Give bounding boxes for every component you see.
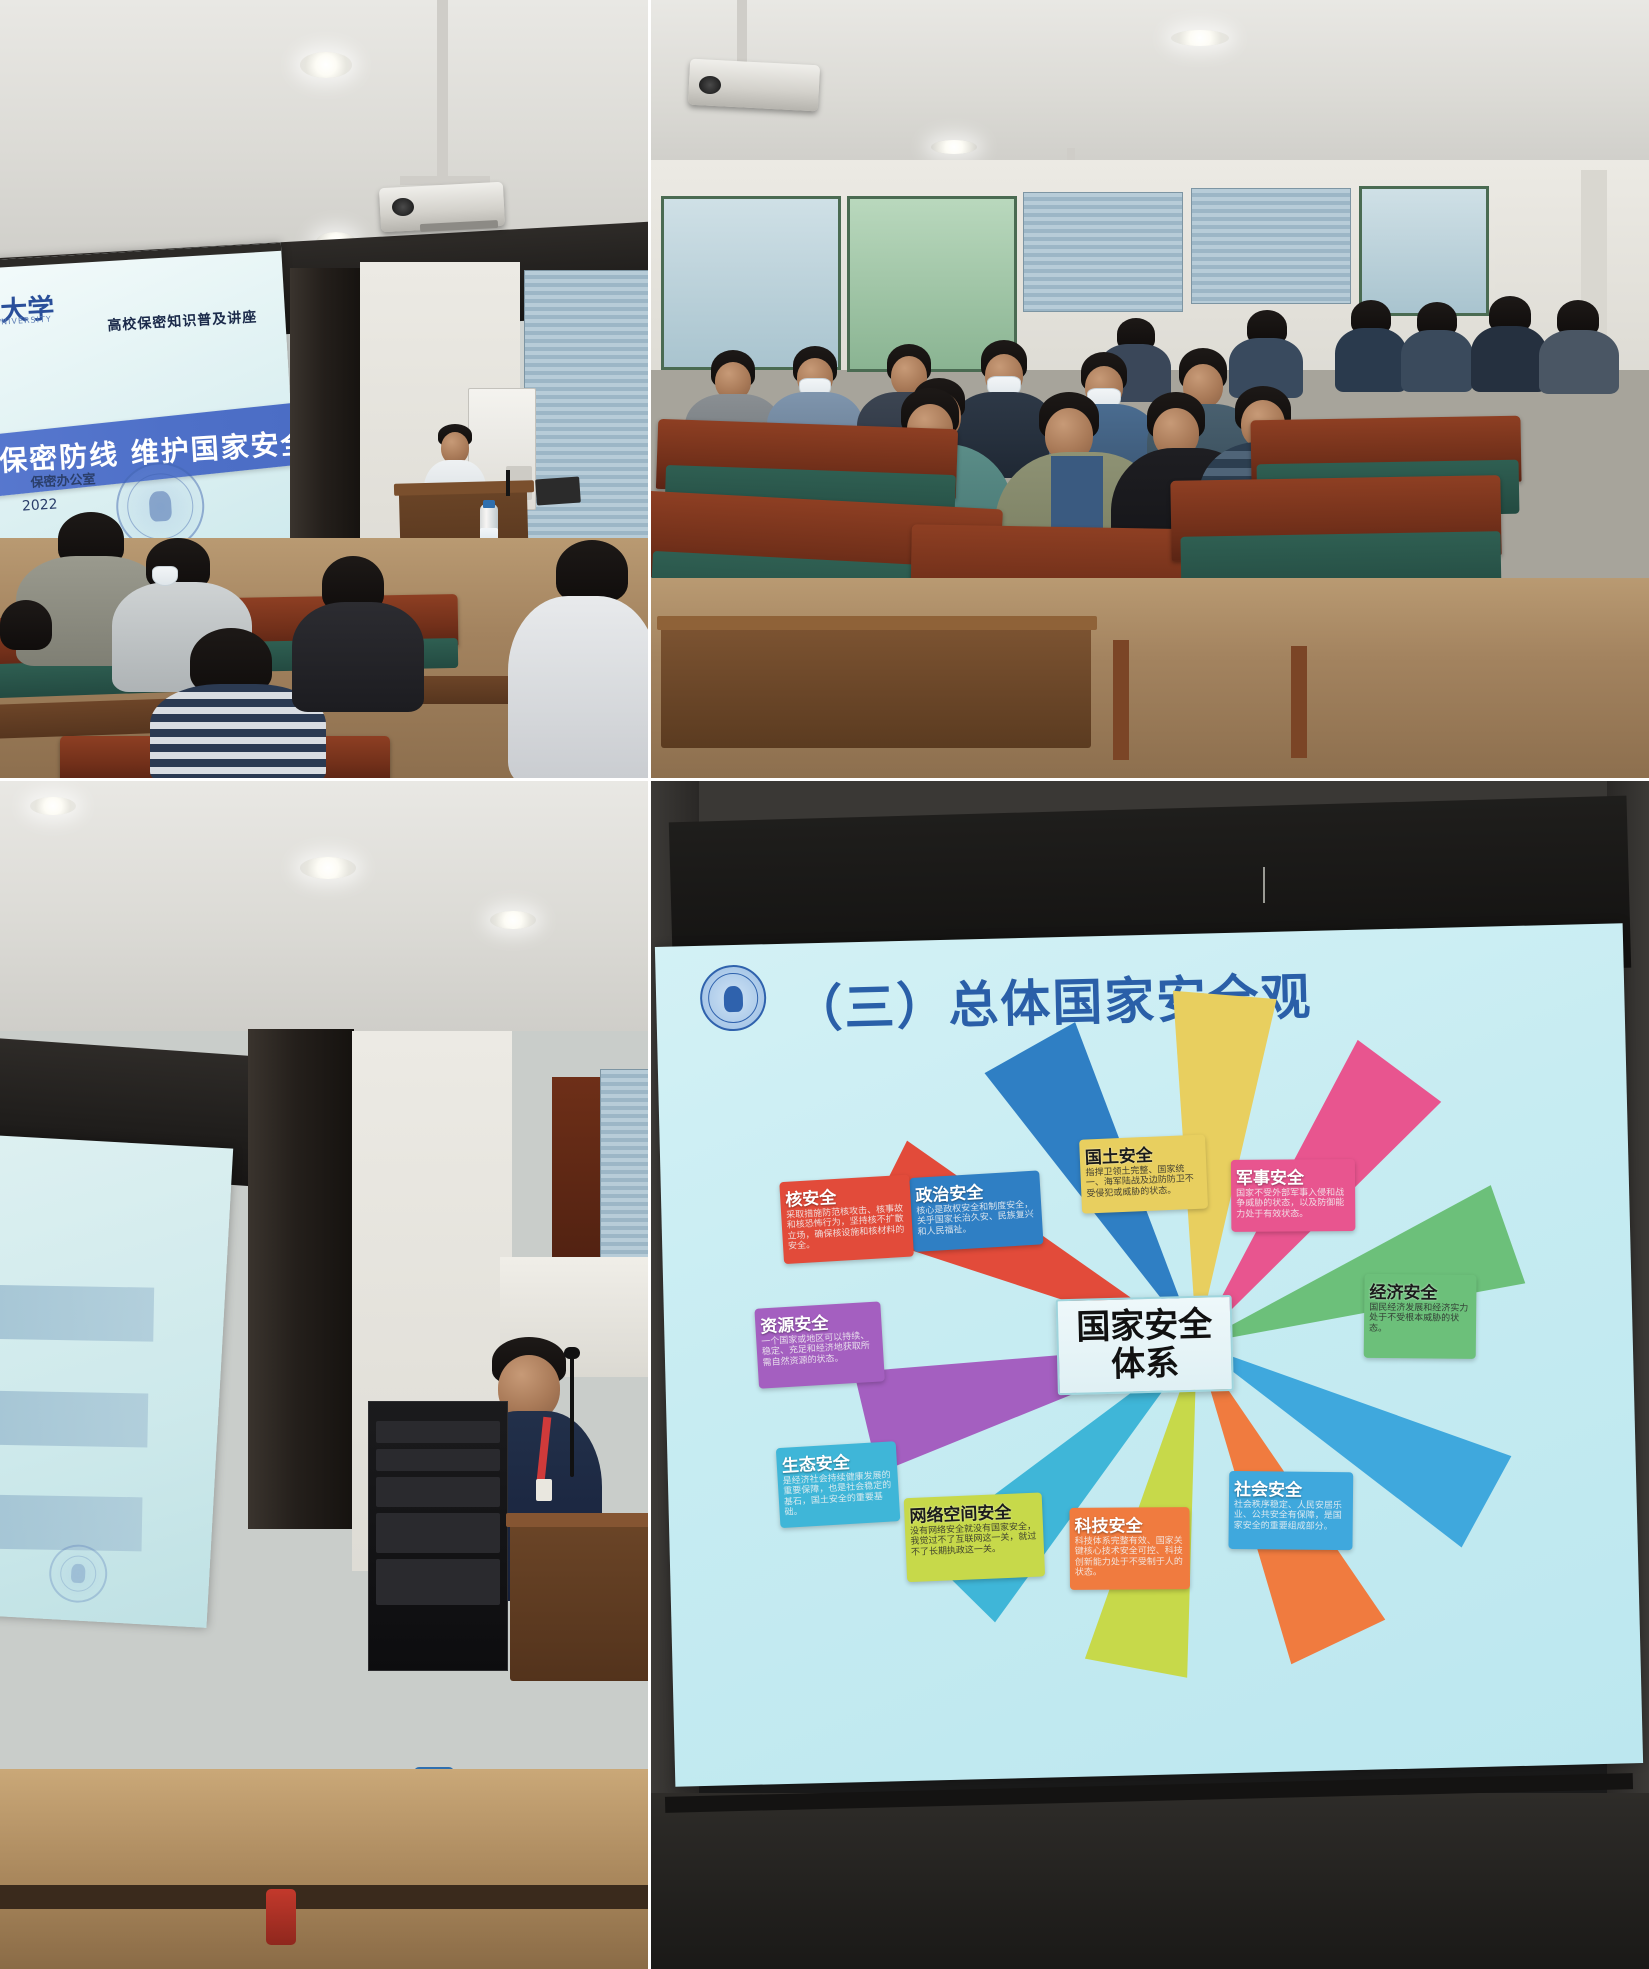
ceiling-light: [931, 140, 977, 154]
projection-screen: 交通大学 JIAOTONG UNIVERSITY 高校保密知识普及讲座 筑牢保密…: [0, 243, 299, 561]
rack-unit: [376, 1559, 500, 1605]
audience-body: [292, 602, 424, 712]
collage-panel-top-right: [651, 0, 1649, 781]
university-seal: [699, 964, 767, 1032]
security-node-social: 社会安全 社会秩序稳定、人民安居乐业、公共安全有保障，是国家安全的重要组成部分。: [1228, 1471, 1353, 1550]
chair-leg: [1113, 640, 1129, 760]
node-desc: 采取措施防范核攻击、核事故和核恐怖行为，坚持核不扩散立场，确保核设施和核材料的安…: [786, 1204, 908, 1253]
ceiling-light: [300, 52, 352, 78]
projector-mount-pole: [437, 0, 448, 176]
node-title: 军事安全: [1236, 1163, 1350, 1189]
projection-screen: （三）总体国家安全观 国家安全 体系: [655, 923, 1643, 1786]
security-node-political: 政治安全 核心是政权安全和制度安全，关乎国家长治久安、民族复兴和人民福祉。: [909, 1170, 1043, 1252]
audience-body: [1539, 330, 1619, 394]
window: [661, 196, 841, 370]
wall-column: [248, 1029, 354, 1529]
lectern: [510, 1521, 651, 1681]
question-bar: [0, 1493, 142, 1551]
slide-year-text: 2022: [22, 496, 59, 514]
audience-head: [556, 540, 628, 602]
ceiling-light: [300, 857, 356, 879]
laptop-screen: [535, 476, 581, 505]
rack-unit: [376, 1421, 500, 1443]
ceiling-light: [30, 797, 76, 815]
question-bar: [0, 1389, 148, 1447]
ceiling-light: [1171, 30, 1229, 46]
photo-collage: 交通大学 JIAOTONG UNIVERSITY 高校保密知识普及讲座 筑牢保密…: [0, 0, 1649, 1969]
node-desc: 没有网络安全就没有国家安全，我觉过不了互联网这一关，就过不了长期执政这一关。: [910, 1522, 1039, 1559]
ceiling-light: [490, 911, 536, 929]
projector-lens: [699, 76, 721, 94]
node-desc: 社会秩序稳定、人民安居乐业、公共安全有保障，是国家安全的重要组成部分。: [1234, 1500, 1348, 1533]
audience-body: [1401, 330, 1473, 392]
desk-edge: [657, 616, 1097, 630]
lower-wall: [651, 1793, 1649, 1969]
window-blinds: [1023, 192, 1183, 312]
fire-extinguisher: [266, 1889, 296, 1945]
collage-panel-bottom-right: （三）总体国家安全观 国家安全 体系: [651, 781, 1649, 1969]
lectern-top: [506, 1513, 651, 1527]
microphone-stand: [570, 1357, 574, 1477]
security-node-economic: 经济安全 国民经济发展和经济实力处于不受根本威胁的状态。: [1364, 1274, 1477, 1359]
security-node-ecological: 生态安全 是经济社会持续健康发展的重要保障，也是社会稳定的基石，国土安全的重要基…: [776, 1441, 901, 1528]
center-line-1: 国家安全: [1076, 1304, 1213, 1347]
diagram-center-node: 国家安全 体系: [1056, 1295, 1234, 1395]
security-node-technology: 科技安全 科技体系完整有效、国家关键核心技术安全可控、科技创新能力处于不受制于人…: [1069, 1507, 1190, 1590]
slide-org-text: 保密办公室: [30, 468, 96, 491]
security-node-resource: 资源安全 一个国家或地区可以持续、稳定、充足和经济地获取所需自然资源的状态。: [754, 1301, 885, 1388]
node-desc: 一个国家或地区可以持续、稳定、充足和经济地获取所需自然资源的状态。: [761, 1331, 879, 1369]
screen-drop-cord: [1263, 867, 1265, 903]
node-title: 社会安全: [1234, 1475, 1348, 1501]
audience-body: [1471, 326, 1547, 392]
speaker-badge: [536, 1479, 552, 1501]
ceiling: [0, 781, 648, 1031]
audience-body: [508, 596, 651, 781]
rack-unit: [376, 1513, 500, 1553]
projector-mount-pole: [737, 0, 747, 62]
node-title: 经济安全: [1369, 1278, 1471, 1304]
window: [1359, 186, 1489, 316]
node-desc: 科技体系完整有效、国家关键核心技术安全可控、科技创新能力处于不受制于人的状态。: [1075, 1536, 1185, 1579]
audience-body: [1335, 328, 1407, 392]
slide-header-text: 高校保密知识普及讲座: [107, 306, 258, 335]
node-desc: 国家不受外部军事入侵和战争威胁的状态，以及防御能力处于有效状态。: [1236, 1188, 1350, 1220]
node-title: 科技安全: [1074, 1511, 1184, 1537]
node-desc: 是经济社会持续健康发展的重要保障，也是社会稳定的基石，国土安全的重要基础。: [783, 1470, 895, 1518]
bottle-cap: [483, 500, 495, 508]
node-desc: 核心是政权安全和制度安全，关乎国家长治久安、民族复兴和人民福祉。: [916, 1200, 1038, 1238]
audience-head: [0, 600, 52, 650]
collage-panel-bottom-left: ? 密? ? 农夫山泉: [0, 781, 651, 1969]
chair-leg: [1291, 646, 1307, 758]
center-line-2: 体系: [1111, 1343, 1180, 1385]
rack-unit: [376, 1477, 500, 1507]
security-node-territorial: 国土安全 指捍卫领土完整、国家统一、海军陆战及边防防卫不受侵犯或威胁的状态。: [1079, 1134, 1208, 1213]
projector-lens: [392, 198, 414, 216]
node-desc: 国民经济发展和经济实力处于不受根本威胁的状态。: [1369, 1303, 1471, 1335]
collage-panel-top-left: 交通大学 JIAOTONG UNIVERSITY 高校保密知识普及讲座 筑牢保密…: [0, 0, 651, 781]
microphone: [506, 470, 510, 496]
microphone-head: [564, 1347, 580, 1359]
floor: [0, 1769, 648, 1969]
question-bar: [0, 1283, 154, 1341]
stage-edge: [0, 1885, 651, 1909]
window-blinds: [1191, 188, 1351, 304]
security-node-military: 军事安全 国家不受外部军事入侵和战争威胁的状态，以及防御能力处于有效状态。: [1231, 1159, 1355, 1232]
security-node-nuclear: 核安全 采取措施防范核攻击、核事故和核恐怖行为，坚持核不扩散立场，确保核设施和核…: [779, 1175, 914, 1265]
node-desc: 指捍卫领土完整、国家统一、海军陆战及边防防卫不受侵犯或威胁的状态。: [1085, 1164, 1202, 1200]
wall-column: [290, 268, 364, 568]
security-wheel: 国家安全 体系 政治安全 核心是政权安全和制度安全，关乎国家长治久安、民族复兴和…: [658, 1033, 1643, 1756]
window-blinds: [524, 270, 651, 570]
projection-screen: ? 密? ?: [0, 1134, 233, 1628]
university-seal-watermark: [48, 1543, 109, 1604]
audience-face-mask: [152, 566, 178, 586]
rack-unit: [376, 1449, 500, 1471]
security-node-cyberspace: 网络空间安全 没有网络安全就没有国家安全，我觉过不了互联网这一关，就过不了长期执…: [904, 1492, 1045, 1582]
desk-foreground: [661, 624, 1091, 748]
